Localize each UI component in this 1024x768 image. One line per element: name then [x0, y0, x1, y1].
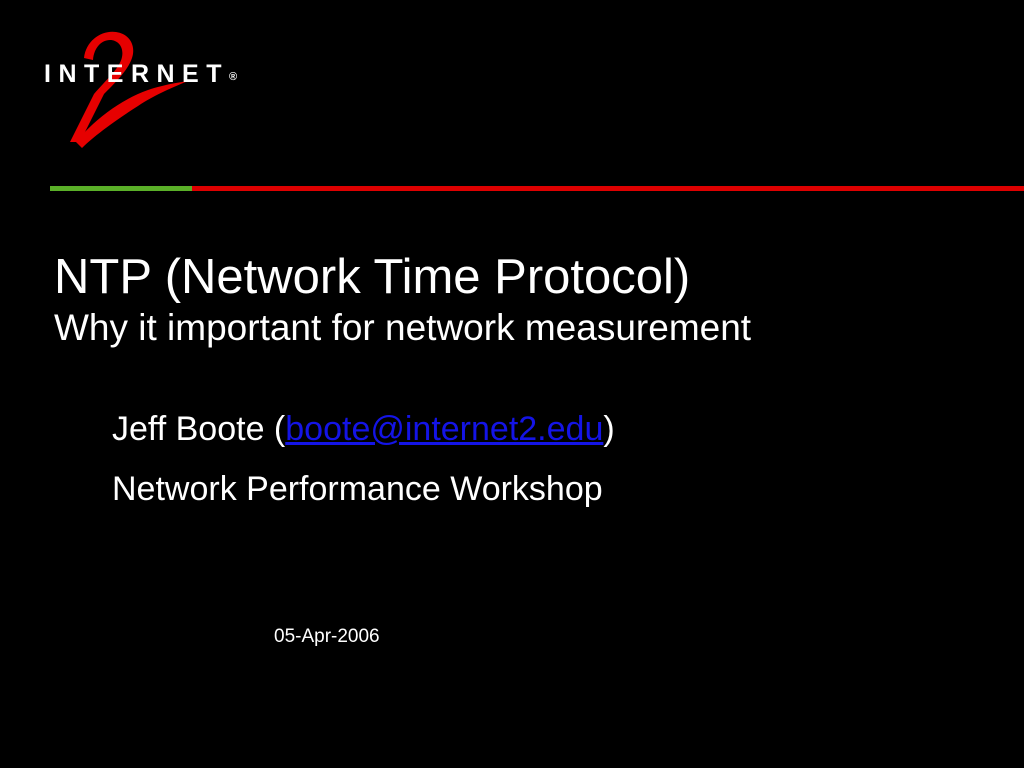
registered-trademark-icon: ®: [229, 71, 237, 83]
author-email-link[interactable]: boote@internet2.edu: [285, 410, 603, 448]
page-title: NTP (Network Time Protocol): [54, 252, 984, 303]
logo-wordmark-text: INTERNET: [44, 60, 229, 88]
internet2-logo: INTERNET®: [36, 24, 256, 164]
logo-wordmark: INTERNET®: [44, 62, 237, 87]
author-name-suffix: ): [603, 410, 614, 448]
divider-green-segment: [50, 186, 192, 191]
author-name-prefix: Jeff Boote (: [112, 410, 285, 448]
workshop-line: Network Performance Workshop: [112, 472, 992, 506]
page-subtitle: Why it important for network measurement: [54, 307, 984, 348]
presentation-slide: INTERNET® NTP (Network Time Protocol) Wh…: [0, 0, 1024, 768]
slide-date: 05-Apr-2006: [274, 626, 380, 648]
title-block: NTP (Network Time Protocol) Why it impor…: [54, 252, 984, 348]
author-line: Jeff Boote (boote@internet2.edu): [112, 412, 992, 446]
divider: [0, 184, 1024, 192]
body-block: Jeff Boote (boote@internet2.edu) Network…: [112, 412, 992, 532]
internet2-logo-graphic: [36, 24, 256, 164]
divider-red-segment: [192, 186, 1024, 191]
